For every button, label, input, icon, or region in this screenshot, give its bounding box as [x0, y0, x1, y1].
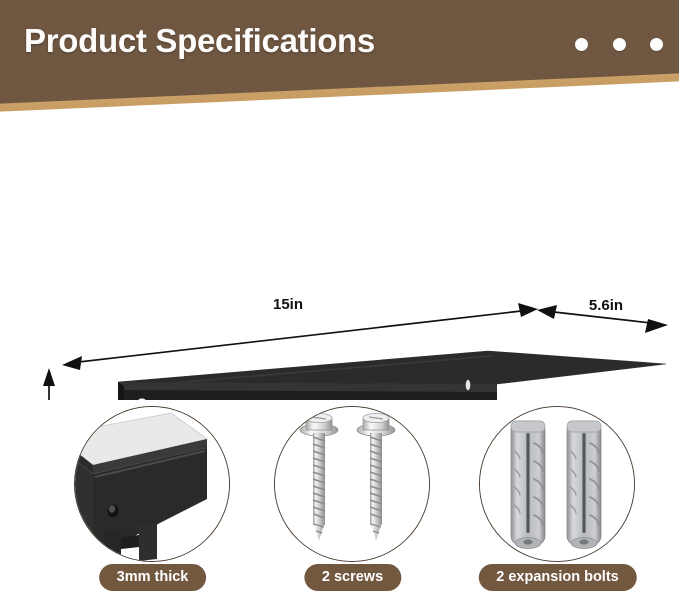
expansion-bolt — [567, 421, 601, 549]
panel-caption-expansion-bolts: 2 expansion bolts — [478, 564, 636, 591]
panel-caption-screws: 2 screws — [304, 564, 401, 591]
dimension-depth: 5.6in — [537, 297, 668, 333]
shelf-illustration — [118, 351, 666, 400]
shelf-top-plate — [118, 351, 666, 384]
product-dimension-drawing: 15in 5.6in 2in — [0, 120, 679, 400]
detail-panel-expansion-bolts: 2 expansion bolts — [451, 404, 664, 598]
detail-panel-screws: 2 screws — [246, 404, 459, 598]
header-banner: Product Specifications — [0, 0, 679, 120]
banner-dot-icon — [575, 38, 588, 51]
banner-dot-icon — [650, 38, 663, 51]
mounting-hole-icon — [466, 380, 471, 390]
expansion-bolt — [511, 421, 545, 549]
dimension-height: 2in — [21, 368, 55, 400]
shelf-edge-closeup-icon — [74, 406, 230, 562]
detail-panel-thickness: 3mm thick — [46, 404, 259, 598]
expansion-bolts-icon — [479, 406, 635, 562]
screws-icon — [274, 406, 430, 562]
banner-dot-icon — [613, 38, 626, 51]
panel-caption-thickness: 3mm thick — [99, 564, 207, 591]
dimension-length-label: 15in — [273, 296, 303, 313]
dimension-depth-label: 5.6in — [589, 297, 623, 314]
detail-panels: 3mm thick — [0, 404, 679, 598]
product-diagram: 15in 5.6in 2in — [0, 120, 679, 400]
page-title: Product Specifications — [24, 22, 375, 60]
